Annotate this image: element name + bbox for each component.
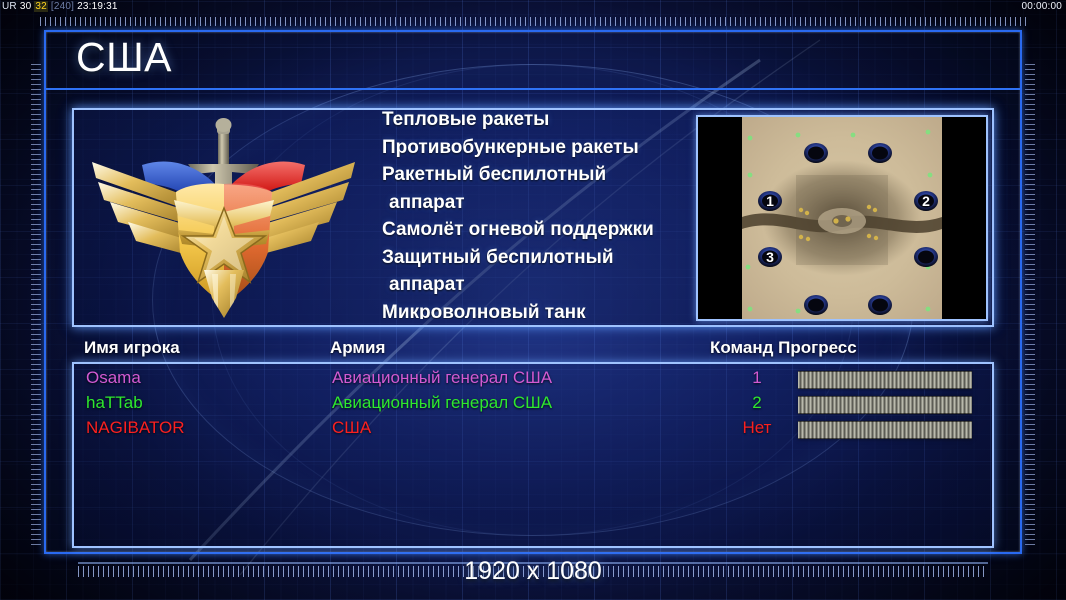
player-row[interactable]: OsamaАвиационный генерал США1 [86,368,982,392]
unit-list-item: Ракетный беспилотный [382,161,702,189]
map-start-position[interactable]: 3 [758,247,782,267]
unit-list-item: Микроволновый танк [382,299,702,320]
player-progress-bar [798,371,972,387]
player-army: Авиационный генерал США [332,393,552,413]
status-bar: UR 30 32 [240] 23:19:31 00:00:00 [0,0,1066,13]
status-clock: 00:00:00 [1021,0,1062,13]
resolution-label: 1920 x 1080 [0,557,1066,586]
player-team: Нет [736,418,778,438]
header-player-name: Имя игрока [84,338,180,358]
ruler-top [40,17,1026,26]
player-team: 1 [736,368,778,388]
loading-screen: UR 30 32 [240] 23:19:31 00:00:00 США [0,0,1066,600]
header-army: Армия [330,338,385,358]
unit-list-item: аппарат [382,189,702,217]
map-start-position[interactable] [804,143,828,163]
player-name: Osama [86,368,141,388]
status-value-1: 30 [20,1,32,12]
player-army: США [332,418,371,438]
player-progress-fill [798,396,972,414]
status-time: 23:19:31 [77,1,118,12]
ruler-left [31,60,41,545]
player-row[interactable]: NAGIBATORСШАНет [86,418,982,442]
player-progress-bar [798,421,972,437]
status-value-2: 32 [34,1,48,12]
unit-list-item: аппарат [382,271,702,299]
map-start-position-label: 1 [766,193,774,209]
page-title: США [76,34,172,81]
map-start-position-label: 2 [922,193,930,209]
player-progress-fill [798,371,972,389]
faction-info-panel: Тепловые ракетыПротивобункерные ракетыРа… [72,108,994,327]
player-team: 2 [736,393,778,413]
unit-list-item: Защитный беспилотный [382,244,702,272]
player-army: Авиационный генерал США [332,368,552,388]
map-start-position[interactable] [868,143,892,163]
map-start-position[interactable] [804,295,828,315]
unit-list-item: Противобункерные ракеты [382,134,702,162]
map-start-position[interactable] [868,295,892,315]
player-row[interactable]: haTTabАвиационный генерал США2 [86,393,982,417]
player-progress-bar [798,396,972,412]
map-start-position[interactable] [914,247,938,267]
usa-air-force-general-emblem-icon [84,112,364,320]
status-prefix: UR [2,1,17,12]
map-start-position[interactable]: 2 [914,191,938,211]
map-preview: 123 [696,115,988,321]
map-start-position[interactable]: 1 [758,191,782,211]
header-team-progress: Команд Прогресс [710,338,857,358]
player-list-panel: OsamaАвиационный генерал США1haTTabАвиац… [72,362,994,548]
unit-list-item: Тепловые ракеты [382,106,702,134]
ruler-right [1025,60,1035,545]
status-bar-left: UR 30 32 [240] 23:19:31 [2,0,118,13]
status-bracket: [240] [51,1,74,12]
title-bar: США [46,32,1020,90]
player-name: NAGIBATOR [86,418,185,438]
player-name: haTTab [86,393,143,413]
unit-list: Тепловые ракетыПротивобункерные ракетыРа… [382,106,702,319]
player-table-headers: Имя игрока Армия Команд Прогресс [84,338,990,360]
unit-list-item: Самолёт огневой поддержки [382,216,702,244]
player-progress-fill [798,421,972,439]
map-start-position-label: 3 [766,249,774,265]
